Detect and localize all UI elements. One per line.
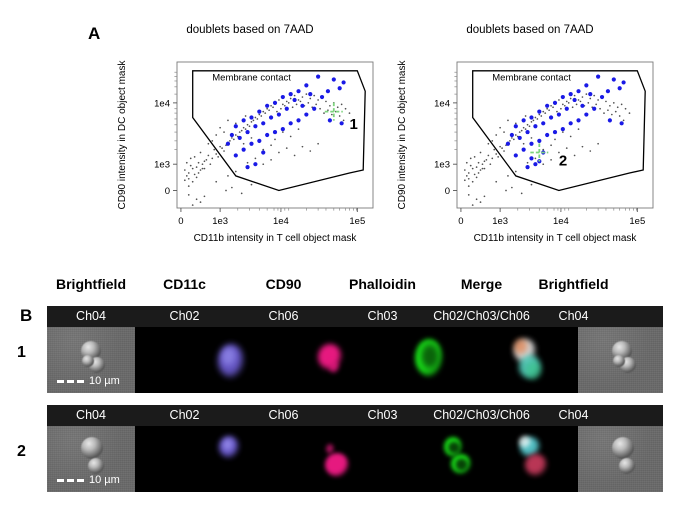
brightfield-cell-a	[612, 437, 634, 459]
cd11c-core	[223, 439, 233, 451]
column-header-cd90-2: CD90	[234, 276, 333, 292]
scale-bar-dash	[57, 479, 64, 482]
svg-text:0: 0	[178, 216, 183, 227]
channel-label-ch06: Ch06	[234, 408, 333, 422]
channel-label-ch06: Ch06	[234, 309, 333, 323]
svg-text:1e3: 1e3	[154, 160, 170, 171]
image-row-2: 2 Ch04Ch02Ch06Ch03Ch02/Ch03/Ch06Ch04 10 …	[47, 405, 663, 492]
cd90-tail	[329, 361, 339, 373]
scatter-plot-1: doublets based on 7AAD Membrane contact1…	[105, 20, 395, 275]
brightfield-cell-b	[619, 458, 635, 474]
scatter-1-canvas: Membrane contact101e31e41e501e31e4CD11b …	[105, 40, 395, 270]
image-row-1: 1 Ch04Ch02Ch06Ch03Ch02/Ch03/Ch06Ch04 10 …	[47, 306, 663, 393]
svg-text:1: 1	[349, 116, 357, 133]
svg-text:CD11b intensity in T cell obje: CD11b intensity in T cell object mask	[474, 233, 638, 244]
svg-text:1e4: 1e4	[273, 216, 289, 227]
brightfield-left-image: 10 µm	[47, 426, 135, 492]
brightfield-noise	[578, 426, 663, 492]
scatter-plot-2: doublets based on 7AAD Membrane contact2…	[385, 20, 675, 275]
row-2-image-strip: 10 µm	[47, 426, 663, 492]
scale-bar-label: 10 µm	[89, 375, 120, 387]
cd90-tail	[326, 444, 334, 454]
svg-text:1e4: 1e4	[553, 216, 569, 227]
row-1-image-strip: 10 µm	[47, 327, 663, 393]
svg-text:1e4: 1e4	[154, 98, 170, 109]
phalloidin-lumen	[417, 341, 443, 375]
channel-label-ch02-ch03-ch06: Ch02/Ch03/Ch06	[432, 309, 531, 323]
channel-label-ch02: Ch02	[135, 309, 234, 323]
brightfield-cell-a	[81, 437, 103, 459]
panel-a-label: A	[88, 24, 100, 44]
brightfield-left-image: 10 µm	[47, 327, 135, 393]
svg-text:1e5: 1e5	[629, 216, 645, 227]
brightfield-right-image	[578, 327, 663, 393]
svg-text:Membrane contact: Membrane contact	[212, 73, 291, 84]
panel-b-label: B	[20, 306, 32, 326]
scale-bar-dash	[77, 479, 84, 482]
merge-green-region	[526, 362, 542, 380]
scale-bar: 10 µm	[57, 375, 120, 387]
svg-text:Membrane contact: Membrane contact	[492, 73, 571, 84]
column-header-phalloidin-3: Phalloidin	[333, 276, 432, 292]
column-header-brightfield-0: Brightfield	[47, 276, 135, 292]
cd90-signal	[325, 453, 349, 477]
row-2-number: 2	[17, 443, 26, 461]
scale-bar-dash	[77, 380, 84, 383]
row-2-channel-header: Ch04Ch02Ch06Ch03Ch02/Ch03/Ch06Ch04	[47, 405, 663, 426]
svg-text:1e3: 1e3	[212, 216, 228, 227]
scale-bar-dash	[67, 479, 74, 482]
scale-bar-dash	[57, 380, 64, 383]
svg-text:1e3: 1e3	[434, 160, 450, 171]
phalloidin-lumen-bottom	[453, 456, 470, 473]
row-1-channel-header: Ch04Ch02Ch06Ch03Ch02/Ch03/Ch06Ch04	[47, 306, 663, 327]
column-header-cd11c-1: CD11c	[135, 276, 234, 292]
merge-magenta-cell	[525, 454, 547, 476]
scatter-2-canvas: Membrane contact201e31e41e501e31e4CD11b …	[385, 40, 675, 270]
svg-text:CD11b intensity in T cell obje: CD11b intensity in T cell object mask	[194, 233, 358, 244]
scatter-1-title: doublets based on 7AAD	[105, 24, 395, 36]
phalloidin-lumen-top	[446, 439, 462, 456]
channel-label-ch04: Ch04	[47, 309, 135, 323]
svg-text:CD90 intensity in DC object m: CD90 intensity in DC object mask	[397, 60, 408, 210]
merge-highlight	[519, 436, 531, 448]
column-header-merge-4: Merge	[432, 276, 531, 292]
scale-bar-label: 10 µm	[89, 474, 120, 486]
brightfield-cell-b	[88, 458, 104, 474]
cd11c-core	[222, 348, 236, 366]
brightfield-cell-c	[82, 355, 94, 367]
svg-text:1e5: 1e5	[349, 216, 365, 227]
svg-text:0: 0	[165, 186, 170, 197]
svg-text:2: 2	[559, 152, 567, 169]
row-1-number: 1	[17, 344, 26, 362]
channel-label-ch02: Ch02	[135, 408, 234, 422]
column-header-brightfield-5: Brightfield	[531, 276, 616, 292]
svg-text:1e3: 1e3	[492, 216, 508, 227]
merge-cd90-region	[514, 339, 528, 355]
scatter-2-title: doublets based on 7AAD	[385, 24, 675, 36]
brightfield-cell-c	[613, 355, 625, 367]
svg-text:1e4: 1e4	[434, 98, 450, 109]
channel-label-ch02-ch03-ch06: Ch02/Ch03/Ch06	[432, 408, 531, 422]
channel-label-ch04: Ch04	[531, 309, 616, 323]
svg-text:0: 0	[445, 186, 450, 197]
channel-label-ch03: Ch03	[333, 408, 432, 422]
svg-text:CD90 intensity in DC object m: CD90 intensity in DC object mask	[117, 60, 128, 210]
channel-label-ch04: Ch04	[47, 408, 135, 422]
brightfield-right-image	[578, 426, 663, 492]
channel-label-ch04: Ch04	[531, 408, 616, 422]
scale-bar-dash	[67, 380, 74, 383]
scale-bar: 10 µm	[57, 474, 120, 486]
svg-text:0: 0	[458, 216, 463, 227]
channel-label-ch03: Ch03	[333, 309, 432, 323]
